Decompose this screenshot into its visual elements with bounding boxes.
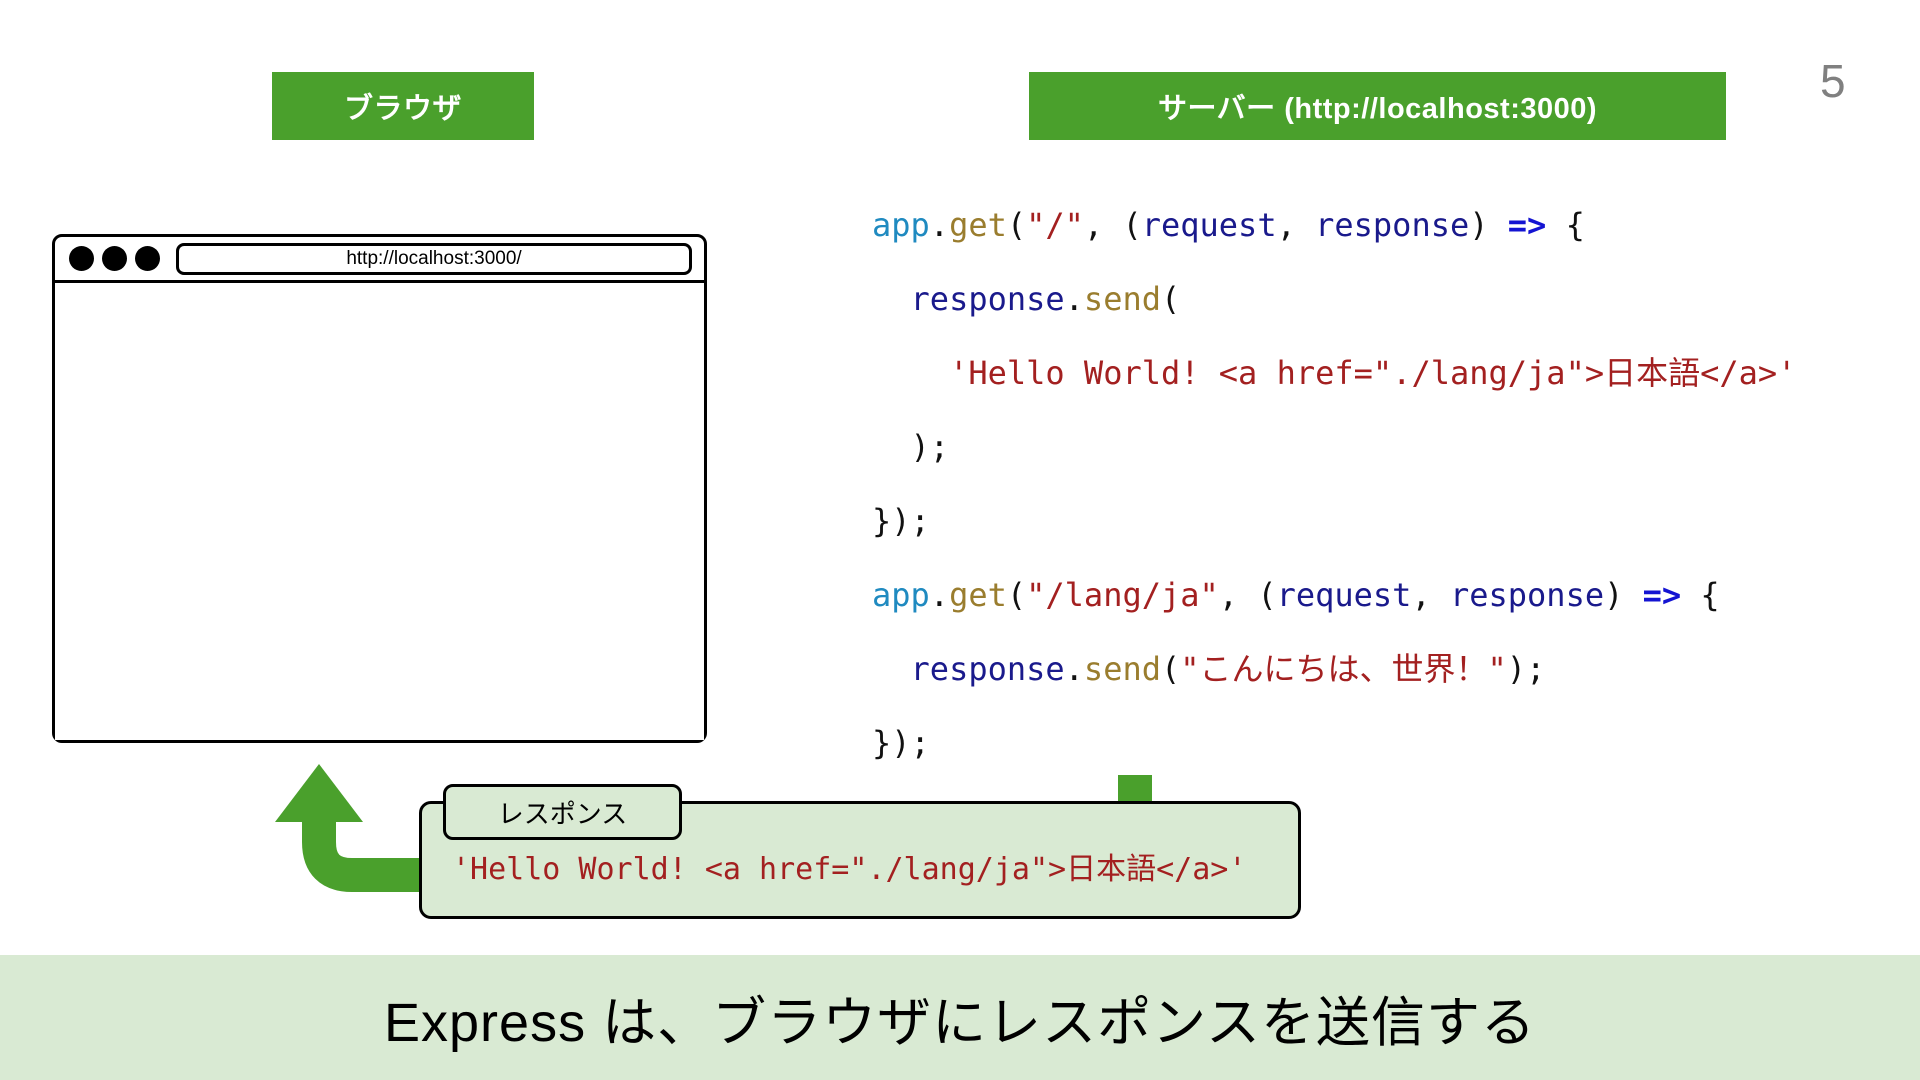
code-token: send [1084, 650, 1161, 688]
code-token: ( [1161, 280, 1180, 318]
window-maximize-dot-icon [135, 246, 160, 271]
code-indent [872, 354, 949, 392]
code-line: 'Hello World! <a href="./lang/ja">日本語</a… [872, 336, 1796, 410]
code-token: . [1065, 650, 1084, 688]
code-token: ); [1507, 650, 1546, 688]
code-token: response [911, 650, 1065, 688]
window-minimize-dot-icon [102, 246, 127, 271]
code-token: get [949, 206, 1007, 244]
window-close-dot-icon [69, 246, 94, 271]
code-token: => [1643, 576, 1682, 614]
code-token: "/" [1026, 206, 1084, 244]
code-token: 'Hello World! <a href="./lang/ja">日本語</a… [949, 354, 1796, 392]
code-token: }); [872, 502, 930, 540]
code-line: ); [872, 410, 1796, 484]
code-line: }); [872, 706, 1796, 780]
code-line: app.get("/lang/ja", (request, response) … [872, 558, 1796, 632]
code-token: ( [1122, 206, 1141, 244]
code-token: , [1277, 206, 1316, 244]
slide-caption-banner: Express は、ブラウザにレスポンスを送信する [0, 955, 1920, 1080]
code-token: response [1315, 206, 1469, 244]
code-token [1623, 576, 1642, 614]
page-number: 5 [1820, 58, 1846, 104]
code-token: app [872, 206, 930, 244]
code-indent [872, 650, 911, 688]
code-token: ); [911, 428, 950, 466]
code-token: request [1142, 206, 1277, 244]
code-line: response.send( [872, 262, 1796, 336]
code-token: { [1681, 576, 1720, 614]
code-token: get [949, 576, 1007, 614]
code-token: send [1084, 280, 1161, 318]
code-token: ) [1604, 576, 1623, 614]
slide-caption-text: Express は、ブラウザにレスポンスを送信する [384, 978, 1536, 1057]
code-token: => [1508, 206, 1547, 244]
code-token: app [872, 576, 930, 614]
browser-viewport [55, 283, 704, 740]
server-column-header: サーバー (http://localhost:3000) [1029, 72, 1726, 140]
code-token: response [1450, 576, 1604, 614]
code-token: . [930, 206, 949, 244]
code-token: ( [1007, 576, 1026, 614]
response-callout-body: 'Hello World! <a href="./lang/ja">日本語</a… [452, 855, 1246, 885]
code-indent [872, 428, 911, 466]
code-token: . [1065, 280, 1084, 318]
browser-chrome-bar: http://localhost:3000/ [55, 237, 704, 283]
code-token: { [1546, 206, 1585, 244]
code-token: request [1277, 576, 1412, 614]
code-line: app.get("/", (request, response) => { [872, 188, 1796, 262]
code-token: . [930, 576, 949, 614]
code-token: "こんにちは、世界！" [1180, 650, 1507, 688]
code-token: }); [872, 724, 930, 762]
code-token: ( [1007, 206, 1026, 244]
code-indent [872, 280, 911, 318]
response-callout-label: レスポンス [443, 784, 682, 840]
code-token: ( [1161, 650, 1180, 688]
browser-column-header: ブラウザ [272, 72, 534, 140]
code-token: ( [1257, 576, 1276, 614]
code-token: ) [1469, 206, 1488, 244]
code-token [1489, 206, 1508, 244]
code-token: , [1411, 576, 1450, 614]
code-line: }); [872, 484, 1796, 558]
code-token: response [911, 280, 1065, 318]
code-token: "/lang/ja" [1026, 576, 1219, 614]
code-token: , [1084, 206, 1123, 244]
browser-url-bar[interactable]: http://localhost:3000/ [176, 243, 692, 275]
code-line: response.send("こんにちは、世界！"); [872, 632, 1796, 706]
browser-window-mockup: http://localhost:3000/ [52, 234, 707, 743]
code-token: , [1219, 576, 1258, 614]
server-code-block: app.get("/", (request, response) => { re… [872, 188, 1796, 780]
